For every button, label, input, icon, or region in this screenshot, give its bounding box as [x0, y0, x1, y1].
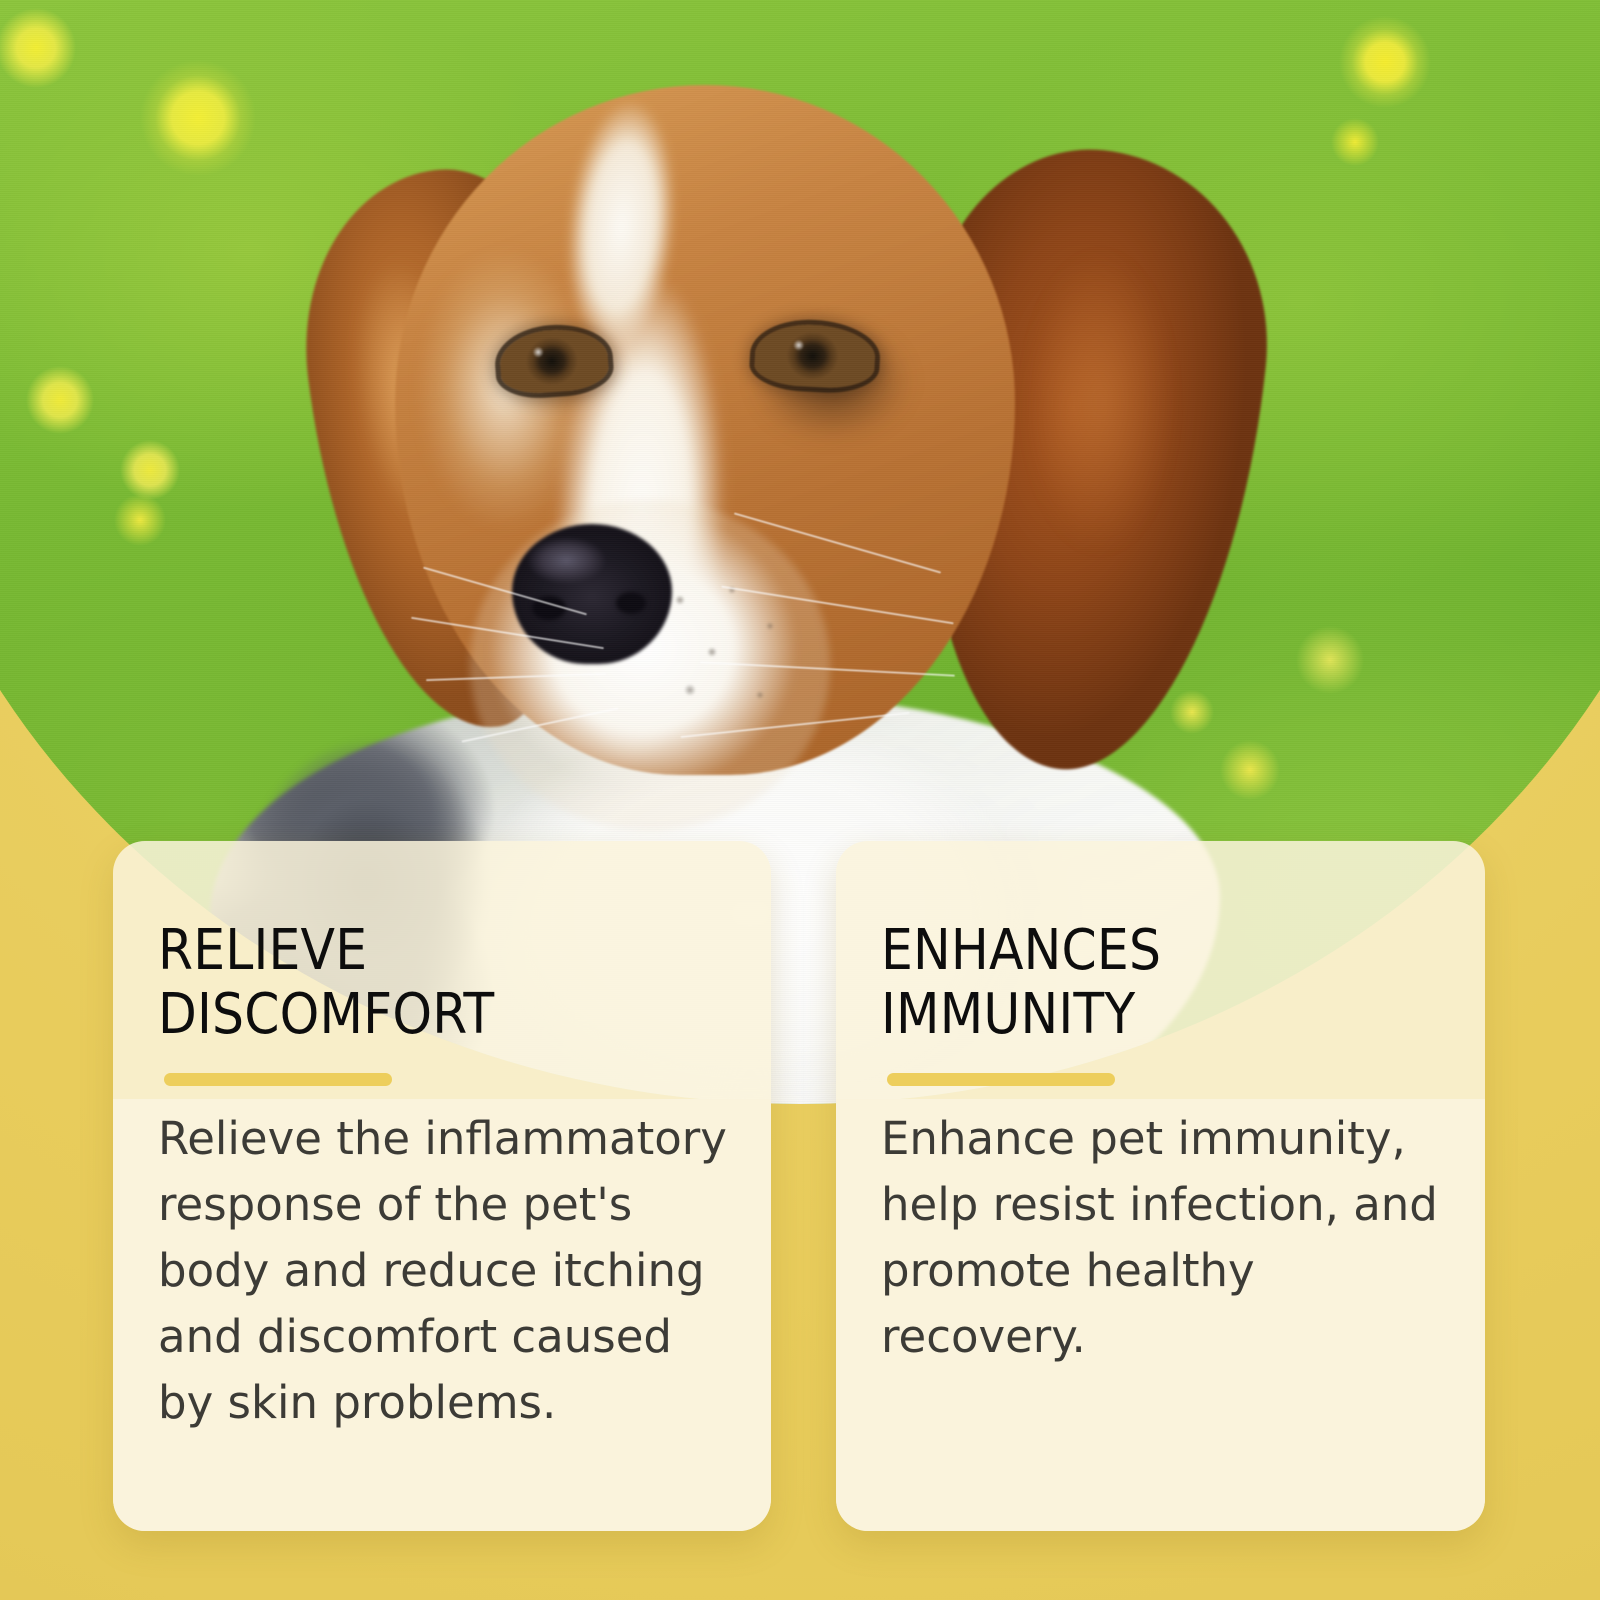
- card-description: Relieve the inflammatory response of the…: [158, 1106, 748, 1437]
- card-title: ENHANCES IMMUNITY: [881, 919, 1485, 1047]
- card-title: RELIEVE DISCOMFORT: [158, 919, 771, 1047]
- accent-bar: [887, 1073, 1115, 1086]
- accent-bar: [164, 1073, 392, 1086]
- card-content: ENHANCES IMMUNITY Enhance pet immunity, …: [836, 841, 1485, 1370]
- benefit-card-relieve-discomfort[interactable]: RELIEVE DISCOMFORT Relieve the inflammat…: [113, 841, 771, 1531]
- dog-right-ear-highlight: [1000, 250, 1200, 630]
- card-content: RELIEVE DISCOMFORT Relieve the inflammat…: [113, 841, 771, 1436]
- infographic-canvas: RELIEVE DISCOMFORT Relieve the inflammat…: [0, 0, 1600, 1600]
- dog-whiskers: [400, 480, 1000, 820]
- card-description: Enhance pet immunity, help resist infect…: [881, 1106, 1471, 1371]
- benefit-card-enhances-immunity[interactable]: ENHANCES IMMUNITY Enhance pet immunity, …: [836, 841, 1485, 1531]
